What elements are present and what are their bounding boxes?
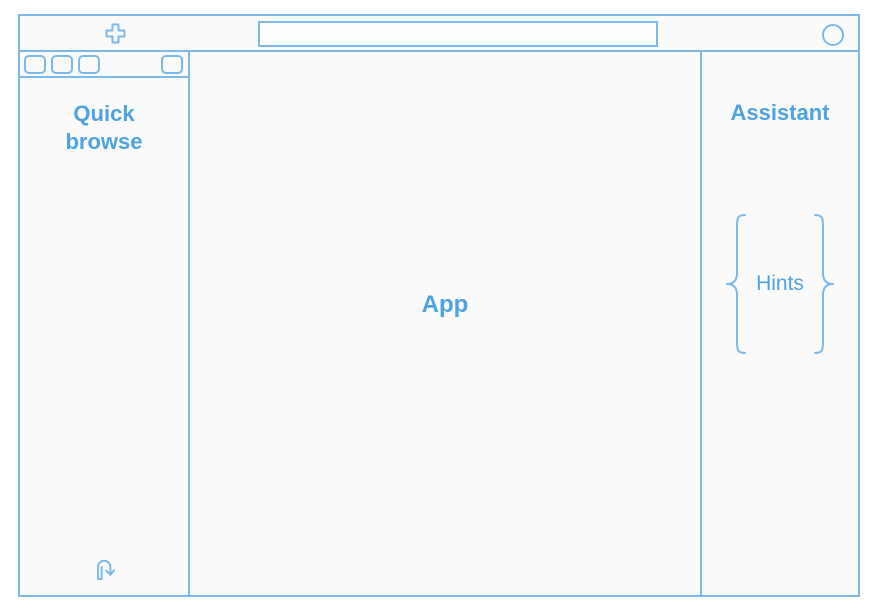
hints-label: Hints [750, 272, 810, 296]
plus-icon[interactable] [104, 23, 127, 46]
open-brace-icon [724, 213, 750, 355]
window-frame: Quick browse App Assistant [18, 14, 860, 597]
top-bar [20, 16, 858, 52]
search-input[interactable] [258, 21, 658, 47]
assistant-panel: Assistant Hints [702, 52, 858, 595]
app-label: App [422, 291, 469, 319]
app-panel[interactable]: App [190, 52, 702, 595]
quick-browse-title: Quick browse [20, 100, 188, 155]
sidebar-panel: Quick browse [20, 52, 190, 595]
toolbar-button-3[interactable] [78, 55, 100, 74]
u-turn-arrow-icon[interactable] [91, 555, 119, 583]
toolbar-button-1[interactable] [24, 55, 46, 74]
assistant-title: Assistant [702, 100, 858, 126]
close-brace-icon [810, 213, 836, 355]
toolbar-button-2[interactable] [51, 55, 73, 74]
hints-block: Hints [702, 210, 858, 358]
toolbar-button-4[interactable] [161, 55, 183, 74]
sidebar-toolbar [20, 52, 188, 78]
circle-avatar-icon[interactable] [822, 24, 844, 46]
body-area: Quick browse App Assistant [20, 52, 858, 595]
